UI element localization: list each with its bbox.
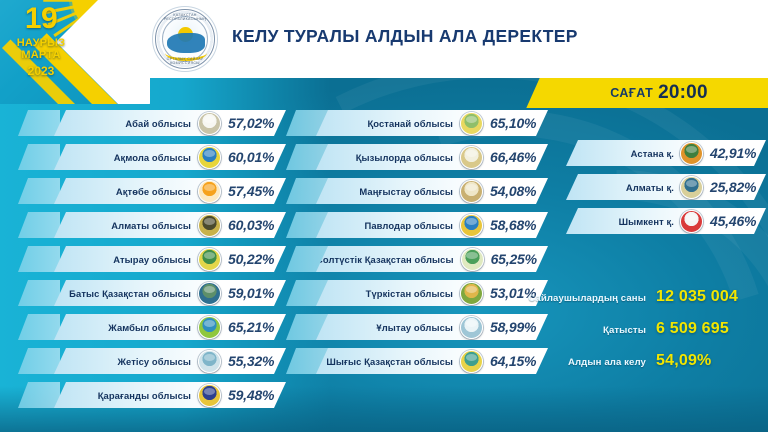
region-percentage: 57,45% <box>228 183 286 199</box>
region-percentage: 25,82% <box>710 179 766 195</box>
row-tail <box>18 212 60 238</box>
clock-value: 20:00 <box>658 82 708 104</box>
row-tail <box>18 110 60 136</box>
region-row[interactable]: Қостанай облысы65,10% <box>286 110 548 136</box>
region-row[interactable]: Қарағанды облысы59,48% <box>18 382 286 408</box>
row-tail <box>18 178 60 204</box>
region-name: Ұлытау облысы <box>316 322 460 333</box>
region-row[interactable]: Жамбыл облысы65,21% <box>18 314 286 340</box>
region-bar: Ұлытау облысы58,99% <box>316 314 548 340</box>
region-row[interactable]: Астана қ.42,91% <box>566 140 766 166</box>
summary-label: Алдын ала келу <box>568 357 646 368</box>
abai-emblem-icon <box>198 112 221 135</box>
region-row[interactable]: Ақмола облысы60,01% <box>18 144 286 170</box>
row-tail <box>18 280 60 306</box>
region-bar: Түркістан облысы53,01% <box>316 280 548 306</box>
akmola-emblem-icon <box>198 146 221 169</box>
region-row[interactable]: Маңғыстау облысы54,08% <box>286 178 548 204</box>
clock-banner: САҒАТ 20:00 <box>550 78 768 108</box>
summary-statistics: Сайлаушылардың саны12 035 004Қатысты6 50… <box>520 288 752 384</box>
date-month-kk: НАУРЫЗ <box>8 38 74 50</box>
region-row[interactable]: Алматы қ.25,82% <box>566 174 766 200</box>
east-kazakhstan-emblem-icon <box>460 350 483 373</box>
region-bar: Ақтөбе облысы57,45% <box>54 178 286 204</box>
emblem-top-text: ҚАЗАҚСТАН РЕСПУБЛИКАСЫНЫҢ <box>153 13 217 21</box>
region-percentage: 55,32% <box>228 353 286 369</box>
region-row[interactable]: Ақтөбе облысы57,45% <box>18 178 286 204</box>
region-bar: Қызылорда облысы66,46% <box>316 144 548 170</box>
date-badge: 19 НАУРЫЗ МАРТА 2023 <box>8 4 74 78</box>
region-name: Атырау облысы <box>54 254 198 265</box>
infographic-stage: 19 НАУРЫЗ МАРТА 2023 ҚАЗАҚСТАН РЕСПУБЛИК… <box>0 0 768 432</box>
region-percentage: 65,21% <box>228 319 286 335</box>
date-day: 19 <box>8 4 74 34</box>
summary-row: Қатысты6 509 695 <box>520 320 752 338</box>
region-percentage: 66,46% <box>490 149 548 165</box>
atyrau-emblem-icon <box>198 248 221 271</box>
region-name: Қызылорда облысы <box>316 152 460 163</box>
region-percentage: 58,68% <box>490 217 548 233</box>
shymkent-emblem-icon <box>680 210 703 233</box>
mangystau-emblem-icon <box>460 180 483 203</box>
region-bar: Шымкент қ.45,46% <box>566 208 766 234</box>
row-tail <box>18 382 60 408</box>
regions-column-1: Абай облысы57,02%Ақмола облысы60,01%Ақтө… <box>18 110 286 416</box>
region-name: Батыс Қазақстан облысы <box>54 288 198 299</box>
region-row[interactable]: Батыс Қазақстан облысы59,01% <box>18 280 286 306</box>
date-year: 2023 <box>8 64 74 78</box>
region-bar: Астана қ.42,91% <box>566 140 766 166</box>
region-bar: Павлодар облысы58,68% <box>316 212 548 238</box>
region-percentage: 65,25% <box>491 251 549 267</box>
region-row[interactable]: Қызылорда облысы66,46% <box>286 144 548 170</box>
region-percentage: 65,10% <box>490 115 548 131</box>
region-name: Ақтөбе облысы <box>54 186 198 197</box>
row-tail <box>18 348 60 374</box>
region-bar: Солтүстік Қазақстан облысы65,25% <box>316 246 548 272</box>
region-percentage: 59,48% <box>228 387 286 403</box>
west-kazakhstan-emblem-icon <box>198 282 221 305</box>
karaganda-emblem-icon <box>198 384 221 407</box>
region-bar: Алматы қ.25,82% <box>566 174 766 200</box>
region-row[interactable]: Шығыс Қазақстан облысы64,15% <box>286 348 548 374</box>
region-row[interactable]: Солтүстік Қазақстан облысы65,25% <box>286 246 548 272</box>
row-tail <box>18 314 60 340</box>
region-row[interactable]: Ұлытау облысы58,99% <box>286 314 548 340</box>
summary-value: 54,09% <box>656 352 752 370</box>
region-bar: Батыс Қазақстан облысы59,01% <box>54 280 286 306</box>
region-percentage: 54,08% <box>490 183 548 199</box>
region-percentage: 42,91% <box>710 145 766 161</box>
region-percentage: 59,01% <box>228 285 286 301</box>
region-name: Алматы қ. <box>566 182 680 193</box>
almaty-city-emblem-icon <box>680 176 703 199</box>
region-name: Шығыс Қазақстан облысы <box>316 356 460 367</box>
kostanay-emblem-icon <box>460 112 483 135</box>
summary-value: 6 509 695 <box>656 320 752 338</box>
north-kazakhstan-emblem-icon <box>461 248 484 271</box>
region-row[interactable]: Түркістан облысы53,01% <box>286 280 548 306</box>
region-name: Жетісу облысы <box>54 356 198 367</box>
region-name: Түркістан облысы <box>316 288 460 299</box>
emblem-bottom-text: ОРТАЛЫҚ САЙЛАУ КОМИССИЯСЫ <box>153 57 217 65</box>
region-row[interactable]: Алматы облысы60,03% <box>18 212 286 238</box>
region-bar: Жетісу облысы55,32% <box>54 348 286 374</box>
zhambyl-emblem-icon <box>198 316 221 339</box>
region-name: Шымкент қ. <box>566 216 680 227</box>
region-row[interactable]: Атырау облысы50,22% <box>18 246 286 272</box>
region-name: Павлодар облысы <box>316 220 460 231</box>
region-row[interactable]: Шымкент қ.45,46% <box>566 208 766 234</box>
region-name: Астана қ. <box>566 148 680 159</box>
astana-emblem-icon <box>680 142 703 165</box>
region-bar: Жамбыл облысы65,21% <box>54 314 286 340</box>
region-bar: Шығыс Қазақстан облысы64,15% <box>316 348 548 374</box>
turkistan-emblem-icon <box>460 282 483 305</box>
region-percentage: 50,22% <box>228 251 286 267</box>
kyzylorda-emblem-icon <box>460 146 483 169</box>
almaty-region-emblem-icon <box>198 214 221 237</box>
summary-row: Алдын ала келу54,09% <box>520 352 752 370</box>
region-bar: Абай облысы57,02% <box>54 110 286 136</box>
region-row[interactable]: Абай облысы57,02% <box>18 110 286 136</box>
date-month-ru: МАРТА <box>8 50 74 62</box>
aktobe-emblem-icon <box>198 180 221 203</box>
region-percentage: 57,02% <box>228 115 286 131</box>
region-percentage: 45,46% <box>710 213 766 229</box>
row-tail <box>18 246 60 272</box>
cities-column: Астана қ.42,91%Алматы қ.25,82%Шымкент қ.… <box>566 140 766 242</box>
region-bar: Қостанай облысы65,10% <box>316 110 548 136</box>
region-bar: Алматы облысы60,03% <box>54 212 286 238</box>
region-name: Қостанай облысы <box>316 118 460 129</box>
summary-label: Қатысты <box>603 325 646 336</box>
regions-column-2: Қостанай облысы65,10%Қызылорда облысы66,… <box>286 110 548 382</box>
region-name: Қарағанды облысы <box>54 390 198 401</box>
region-row[interactable]: Павлодар облысы58,68% <box>286 212 548 238</box>
clock-label: САҒАТ <box>610 86 653 100</box>
summary-row: Сайлаушылардың саны12 035 004 <box>520 288 752 306</box>
pavlodar-emblem-icon <box>460 214 483 237</box>
summary-label: Сайлаушылардың саны <box>528 293 646 304</box>
region-name: Ақмола облысы <box>54 152 198 163</box>
region-name: Жамбыл облысы <box>54 322 198 333</box>
region-row[interactable]: Жетісу облысы55,32% <box>18 348 286 374</box>
region-bar: Қарағанды облысы59,48% <box>54 382 286 408</box>
region-bar: Маңғыстау облысы54,08% <box>316 178 548 204</box>
region-name: Маңғыстау облысы <box>316 186 460 197</box>
zhetysu-emblem-icon <box>198 350 221 373</box>
row-tail <box>18 144 60 170</box>
central-election-commission-emblem-icon: ҚАЗАҚСТАН РЕСПУБЛИКАСЫНЫҢ ОРТАЛЫҚ САЙЛАУ… <box>152 6 218 72</box>
region-percentage: 60,03% <box>228 217 286 233</box>
summary-value: 12 035 004 <box>656 288 752 306</box>
region-bar: Ақмола облысы60,01% <box>54 144 286 170</box>
region-name: Алматы облысы <box>54 220 198 231</box>
region-name: Солтүстік Қазақстан облысы <box>316 254 461 265</box>
region-bar: Атырау облысы50,22% <box>54 246 286 272</box>
page-title: КЕЛУ ТУРАЛЫ АЛДЫН АЛА ДЕРЕКТЕР <box>232 26 578 47</box>
ulytau-emblem-icon <box>460 316 483 339</box>
region-percentage: 60,01% <box>228 149 286 165</box>
region-name: Абай облысы <box>54 118 198 129</box>
